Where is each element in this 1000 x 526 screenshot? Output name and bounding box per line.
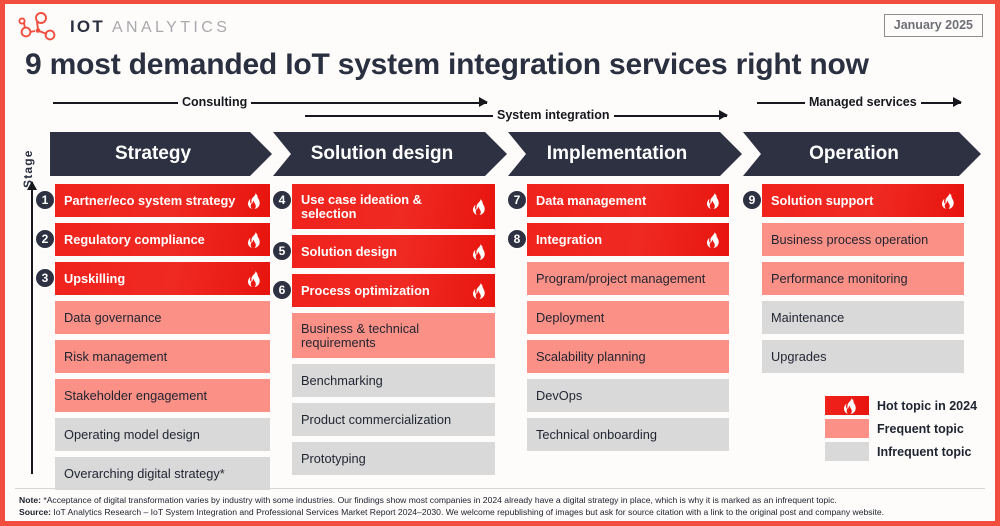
topic-card-label: Data governance	[64, 311, 262, 325]
footer-notes: Note: *Acceptance of digital transformat…	[19, 494, 985, 519]
topic-card-label: Performance monitoring	[771, 272, 956, 286]
axis-label-stage: Stage	[21, 132, 35, 188]
flame-icon	[472, 198, 487, 215]
phase-label: Consulting	[178, 93, 251, 111]
topic-card-label: Upgrades	[771, 350, 956, 364]
topic-card[interactable]: Program/project management	[527, 262, 729, 295]
topic-card[interactable]: Operating model design	[55, 418, 270, 451]
logo-text-secondary: ANALYTICS	[112, 19, 230, 37]
topic-card-label: Maintenance	[771, 311, 956, 325]
flame-icon	[472, 282, 487, 299]
topic-card-label: Business process operation	[771, 233, 956, 247]
topic-card-label: Operating model design	[64, 428, 262, 442]
topic-card-label: Risk management	[64, 350, 262, 364]
topic-card[interactable]: Technical onboarding	[527, 418, 729, 451]
topic-card[interactable]: 9Solution support	[762, 184, 964, 217]
axis-line	[31, 182, 33, 474]
rank-badge: 9	[742, 190, 762, 210]
topic-card-label: Regulatory compliance	[64, 233, 241, 247]
topic-card-label: Data management	[536, 194, 700, 208]
topic-card[interactable]: Data governance	[55, 301, 270, 334]
phase-arrow-managed-services: Managed services	[757, 93, 961, 111]
stage-banner-label: Solution design	[311, 143, 470, 165]
topic-card[interactable]: 7Data management	[527, 184, 729, 217]
stage-banner-implementation: Implementation	[508, 132, 742, 176]
topic-card[interactable]: Business process operation	[762, 223, 964, 256]
legend-swatch	[825, 419, 869, 438]
stage-banner-label: Operation	[809, 143, 915, 165]
topic-card-label: Solution design	[301, 245, 466, 259]
stage-banner-solution-design: Solution design	[273, 132, 507, 176]
footer-divider	[15, 488, 985, 489]
column-operation: 9Solution supportBusiness process operat…	[762, 184, 964, 379]
brand-logo: IOT ANALYTICS	[17, 12, 230, 42]
legend-item: Frequent topic	[825, 419, 977, 438]
source-prefix: Source:	[19, 507, 51, 517]
arrow-line	[53, 102, 487, 104]
arrow-head-icon	[953, 97, 962, 107]
flame-icon	[247, 270, 262, 287]
legend-label: Frequent topic	[877, 422, 964, 436]
rank-badge: 2	[35, 229, 55, 249]
stage-banner-label: Implementation	[547, 143, 703, 165]
column-implementation: 7Data management8IntegrationProgram/proj…	[527, 184, 729, 457]
stage-banner-operation: Operation	[743, 132, 981, 176]
arrow-head-icon	[27, 181, 37, 190]
page-title: 9 most demanded IoT system integration s…	[25, 48, 869, 82]
topic-card-label: Partner/eco system strategy	[64, 194, 241, 208]
rank-badge: 6	[272, 280, 292, 300]
topic-card[interactable]: 3Upskilling	[55, 262, 270, 295]
topic-card-label: Prototyping	[301, 452, 487, 466]
topic-card[interactable]: 8Integration	[527, 223, 729, 256]
flame-icon	[247, 231, 262, 248]
topic-card[interactable]: 2Regulatory compliance	[55, 223, 270, 256]
flame-icon	[706, 231, 721, 248]
flame-icon	[472, 243, 487, 260]
flame-icon	[706, 192, 721, 209]
topic-card[interactable]: Benchmarking	[292, 364, 495, 397]
topic-card-label: Technical onboarding	[536, 428, 721, 442]
topic-card[interactable]: Risk management	[55, 340, 270, 373]
rank-badge: 8	[507, 229, 527, 249]
logo-text-primary: IOT	[70, 17, 105, 37]
source-text: IoT Analytics Research – IoT System Inte…	[51, 507, 884, 517]
topic-card-label: DevOps	[536, 389, 721, 403]
column-solution-design: 4Use case ideation & selection5Solution …	[292, 184, 495, 481]
network-nodes-icon	[17, 12, 61, 42]
legend-swatch	[825, 442, 869, 461]
rank-badge: 3	[35, 268, 55, 288]
topic-card[interactable]: 5Solution design	[292, 235, 495, 268]
topic-card-label: Use case ideation & selection	[301, 193, 466, 221]
footer-note-line: Note: *Acceptance of digital transformat…	[19, 494, 985, 506]
topic-card-label: Integration	[536, 233, 700, 247]
flame-icon	[247, 192, 262, 209]
topic-card-label: Program/project management	[536, 272, 721, 286]
rank-badge: 7	[507, 190, 527, 210]
topic-card[interactable]: Upgrades	[762, 340, 964, 373]
flame-icon	[941, 192, 956, 209]
arrow-head-icon	[719, 110, 728, 120]
topic-card[interactable]: Scalability planning	[527, 340, 729, 373]
topic-card-label: Process optimization	[301, 284, 466, 298]
topic-card-label: Product commercialization	[301, 413, 487, 427]
rank-badge: 4	[272, 190, 292, 210]
topic-card-label: Business & technical requirements	[301, 322, 487, 350]
topic-card[interactable]: Deployment	[527, 301, 729, 334]
legend-item: Infrequent topic	[825, 442, 977, 461]
legend-label: Hot topic in 2024	[877, 399, 977, 413]
phase-label: Managed services	[805, 93, 921, 111]
topic-card[interactable]: Stakeholder engagement	[55, 379, 270, 412]
topic-card-label: Deployment	[536, 311, 721, 325]
topic-card[interactable]: DevOps	[527, 379, 729, 412]
rank-badge: 1	[35, 190, 55, 210]
legend: Hot topic in 2024Frequent topicInfrequen…	[825, 396, 977, 461]
legend-swatch	[825, 396, 869, 415]
phase-label: System integration	[493, 106, 614, 124]
date-badge: January 2025	[884, 14, 983, 37]
topic-card-label: Overarching digital strategy*	[64, 467, 262, 481]
column-strategy: 1Partner/eco system strategy2Regulatory …	[55, 184, 270, 496]
phase-arrow-system-integration: System integration	[305, 106, 727, 124]
legend-item: Hot topic in 2024	[825, 396, 977, 415]
topic-card[interactable]: Prototyping	[292, 442, 495, 475]
topic-card[interactable]: Business & technical requirements	[292, 313, 495, 358]
topic-card[interactable]: 4Use case ideation & selection	[292, 184, 495, 229]
topic-card-label: Solution support	[771, 194, 935, 208]
infographic-canvas: IOT ANALYTICS January 2025 9 most demand…	[0, 0, 1000, 526]
topic-card-label: Stakeholder engagement	[64, 389, 262, 403]
flame-icon	[843, 397, 858, 414]
topic-card[interactable]: 6Process optimization	[292, 274, 495, 307]
stage-banner-label: Strategy	[115, 143, 207, 165]
stage-banner-strategy: Strategy	[50, 132, 272, 176]
topic-card[interactable]: Product commercialization	[292, 403, 495, 436]
legend-label: Infrequent topic	[877, 445, 971, 459]
topic-card[interactable]: 1Partner/eco system strategy	[55, 184, 270, 217]
note-text: *Acceptance of digital transformation va…	[41, 495, 837, 505]
topic-card-label: Upskilling	[64, 272, 241, 286]
topic-card-label: Benchmarking	[301, 374, 487, 388]
axis-topic-area	[23, 182, 41, 474]
footer-source-line: Source: IoT Analytics Research – IoT Sys…	[19, 506, 985, 518]
topic-card[interactable]: Maintenance	[762, 301, 964, 334]
topic-card[interactable]: Overarching digital strategy*	[55, 457, 270, 490]
topic-card[interactable]: Performance monitoring	[762, 262, 964, 295]
topic-card-label: Scalability planning	[536, 350, 721, 364]
rank-badge: 5	[272, 241, 292, 261]
note-prefix: Note:	[19, 495, 41, 505]
